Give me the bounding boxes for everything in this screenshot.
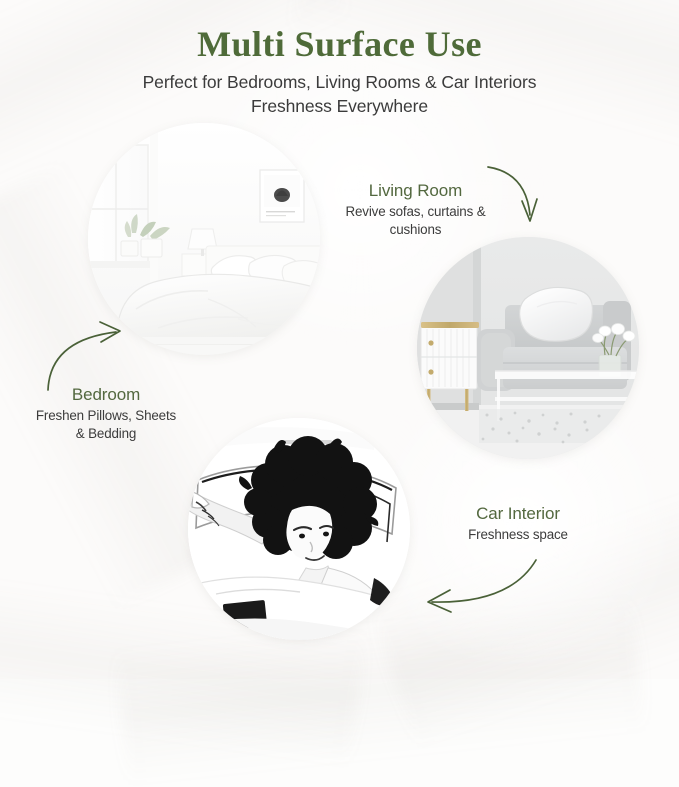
car-interior-photo-circle <box>188 418 410 640</box>
bedroom-photo-circle <box>88 123 320 355</box>
living-room-desc-line-1: Revive sofas, curtains & <box>318 203 513 221</box>
subtitle-line-2: Freshness Everywhere <box>0 95 679 118</box>
bedroom-scene <box>88 123 320 355</box>
living-room-title: Living Room <box>318 180 513 201</box>
header: Multi Surface Use Perfect for Bedrooms, … <box>0 0 679 118</box>
car-interior-desc-line-1: Freshness space <box>418 526 618 544</box>
subtitle-line-1: Perfect for Bedrooms, Living Rooms & Car… <box>0 71 679 94</box>
living-room-desc-line-2: cushions <box>318 221 513 239</box>
bedroom-label-block: Bedroom Freshen Pillows, Sheets & Beddin… <box>0 384 212 443</box>
bedroom-illustration <box>88 123 320 355</box>
car-interior-scene <box>188 418 410 640</box>
living-room-illustration <box>417 237 639 459</box>
bedroom-desc-line-2: & Bedding <box>0 425 212 443</box>
living-room-scene <box>417 237 639 459</box>
car-interior-title: Car Interior <box>418 503 618 524</box>
bedroom-desc-line-1: Freshen Pillows, Sheets <box>0 407 212 425</box>
car-interior-label-block: Car Interior Freshness space <box>418 503 618 544</box>
bedroom-title: Bedroom <box>0 384 212 405</box>
living-room-label-block: Living Room Revive sofas, curtains & cus… <box>318 180 513 239</box>
living-room-photo-circle <box>417 237 639 459</box>
page-title: Multi Surface Use <box>0 25 679 65</box>
car-interior-illustration <box>188 418 410 640</box>
